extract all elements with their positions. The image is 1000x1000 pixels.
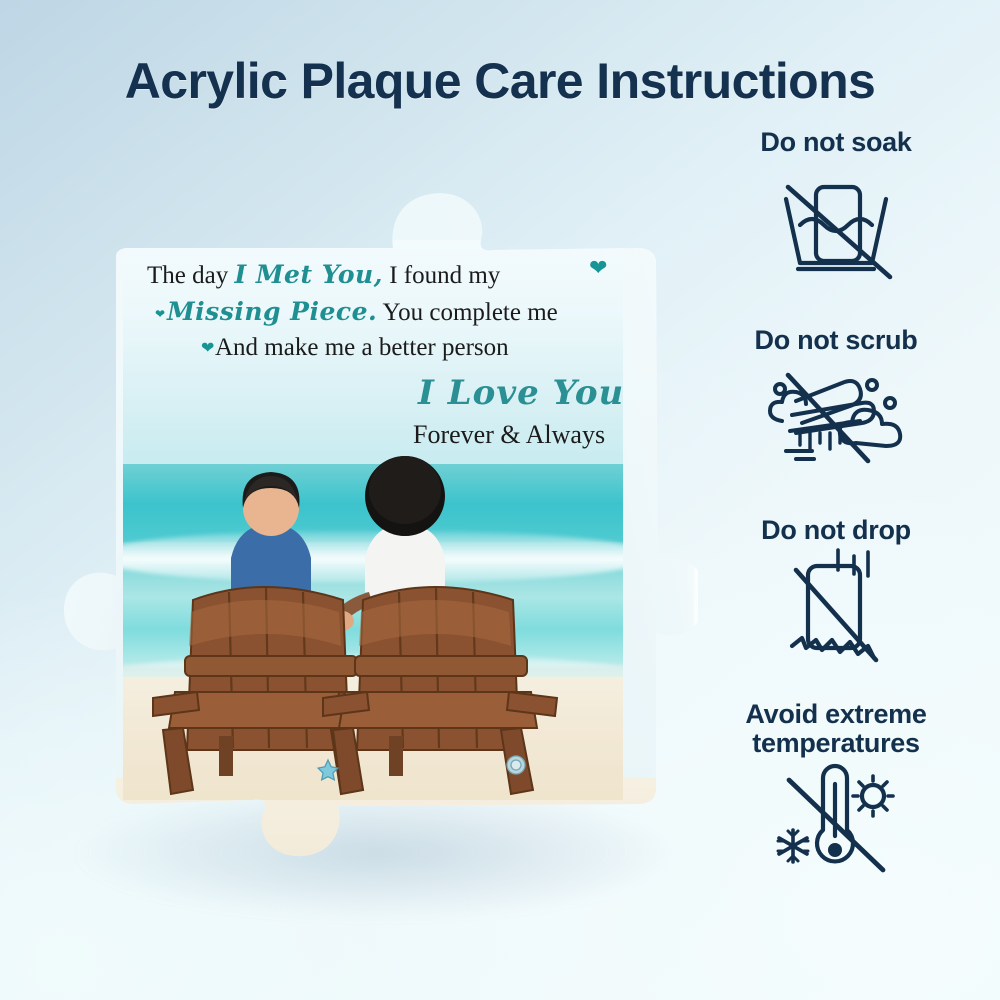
sun-icon	[853, 776, 893, 816]
page-root: Acrylic Plaque Care Instructions The day…	[0, 0, 1000, 1000]
care-label-do-not-drop: Do not drop	[686, 516, 986, 545]
care-item-do-not-soak: Do not soak	[686, 128, 986, 288]
no-extreme-temperature-thermometer-icon	[686, 757, 986, 877]
plaque-clipped-body: The day I Met You, I found my Missing Pi…	[38, 148, 698, 893]
care-item-do-not-scrub: Do not scrub	[686, 326, 986, 469]
plaque-artwork: The day I Met You, I found my Missing Pi…	[123, 240, 623, 800]
couple-scene	[123, 240, 623, 800]
heart-icon: ❤	[613, 240, 623, 249]
care-label-line-2: temperatures	[686, 729, 986, 758]
care-item-do-not-drop: Do not drop	[686, 516, 986, 667]
care-label-avoid-extreme-temperatures: Avoid extreme temperatures	[686, 700, 986, 757]
care-label-line-1: Avoid extreme	[686, 700, 986, 729]
snowflake-icon	[778, 830, 808, 862]
scallop-seashell-icon	[338, 920, 382, 964]
spiral-shell-icon	[507, 756, 525, 774]
no-drop-plaque-icon	[686, 547, 986, 667]
care-item-avoid-extreme-temperatures: Avoid extreme temperatures	[686, 700, 986, 877]
care-label-do-not-scrub: Do not scrub	[686, 326, 986, 355]
care-label-do-not-soak: Do not soak	[686, 128, 986, 157]
no-scrub-brush-icon	[686, 359, 986, 469]
no-soak-basin-icon	[686, 163, 986, 288]
plaque-drop-shadow	[78, 788, 678, 918]
blue-starfish-icon	[318, 760, 338, 780]
page-title: Acrylic Plaque Care Instructions	[0, 52, 1000, 110]
acrylic-plaque: The day I Met You, I found my Missing Pi…	[38, 148, 698, 893]
